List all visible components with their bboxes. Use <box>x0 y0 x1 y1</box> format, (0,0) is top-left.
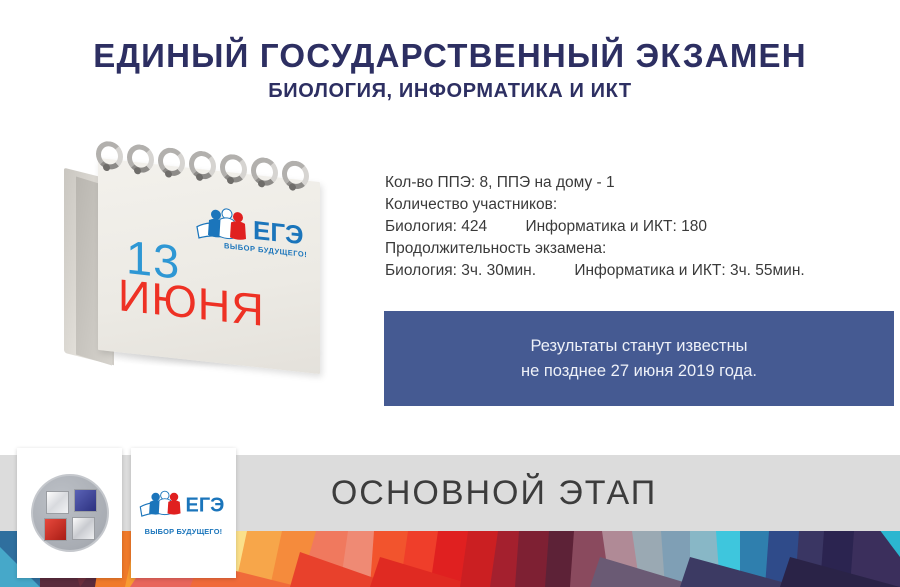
emblem-square-silver-top <box>46 491 69 514</box>
info-line-duration-label: Продолжительность экзамена: <box>385 238 885 260</box>
info-line-duration-values: Биология: 3ч. 30мин. Информатика и ИКТ: … <box>385 260 885 282</box>
ege-logo-bottom-tagline: ВЫБОР БУДУЩЕГО! <box>138 527 230 536</box>
emblem-square-silver-bottom <box>72 517 95 540</box>
ege-logo-bottom-svg: ЕГЭ <box>138 490 230 520</box>
logo-card-emblem-inner <box>17 448 122 578</box>
spiral-ring <box>282 159 309 190</box>
desk-calendar-illustration: ЕГЭ ВЫБОР БУДУЩЕГО! 13 ИЮНЯ <box>36 148 336 383</box>
participants-biology: Биология: 424 <box>385 218 487 235</box>
info-line-ppe: Кол-во ППЭ: 8, ППЭ на дому - 1 <box>385 172 885 194</box>
spiral-ring <box>158 146 185 177</box>
results-line-2: не позднее 27 июня 2019 года. <box>521 359 757 384</box>
logo-card-ege-inner: ЕГЭ ВЫБОР БУДУЩЕГО! <box>131 448 236 578</box>
exam-info-block: Кол-во ППЭ: 8, ППЭ на дому - 1 Количеств… <box>385 172 885 282</box>
info-line-participants-values: Биология: 424 Информатика и ИКТ: 180 <box>385 216 885 238</box>
spiral-ring <box>251 156 278 187</box>
page-title: ЕДИНЫЙ ГОСУДАРСТВЕННЫЙ ЭКЗАМЕН <box>0 38 900 74</box>
info-line-participants-label: Количество участников: <box>385 194 885 216</box>
results-line-1: Результаты станут известны <box>530 334 747 359</box>
ege-logo-bottom: ЕГЭ ВЫБОР БУДУЩЕГО! <box>138 490 230 536</box>
logo-card-ege: ЕГЭ ВЫБОР БУДУЩЕГО! <box>131 448 236 578</box>
results-notice-box: Результаты станут известны не позднее 27… <box>384 311 894 406</box>
emblem-square-red <box>44 518 67 541</box>
duration-biology: Биология: 3ч. 30мин. <box>385 262 536 279</box>
spiral-ring <box>127 143 154 174</box>
ege-logo-bottom-letters: ЕГЭ <box>185 495 224 517</box>
spiral-ring <box>189 150 216 181</box>
poster-header: ЕДИНЫЙ ГОСУДАРСТВЕННЫЙ ЭКЗАМЕН БИОЛОГИЯ,… <box>0 38 900 103</box>
poster-canvas: ЕДИНЫЙ ГОСУДАРСТВЕННЫЙ ЭКЗАМЕН БИОЛОГИЯ,… <box>0 0 900 587</box>
page-subtitle: БИОЛОГИЯ, ИНФОРМАТИКА И ИКТ <box>0 80 900 103</box>
duration-informatics: Информатика и ИКТ: 3ч. 55мин. <box>574 260 804 282</box>
calendar-month: ИЮНЯ <box>118 272 265 333</box>
ege-logo-on-calendar: ЕГЭ ВЫБОР БУДУЩЕГО! <box>194 202 314 261</box>
emblem-square-blue <box>74 489 97 512</box>
four-squares-emblem <box>31 474 109 552</box>
spiral-ring <box>220 153 247 184</box>
ege-logo-svg: ЕГЭ ВЫБОР БУДУЩЕГО! <box>194 202 314 261</box>
logo-card-emblem <box>17 448 122 578</box>
participants-informatics: Информатика и ИКТ: 180 <box>525 216 707 238</box>
spiral-ring <box>96 140 123 171</box>
